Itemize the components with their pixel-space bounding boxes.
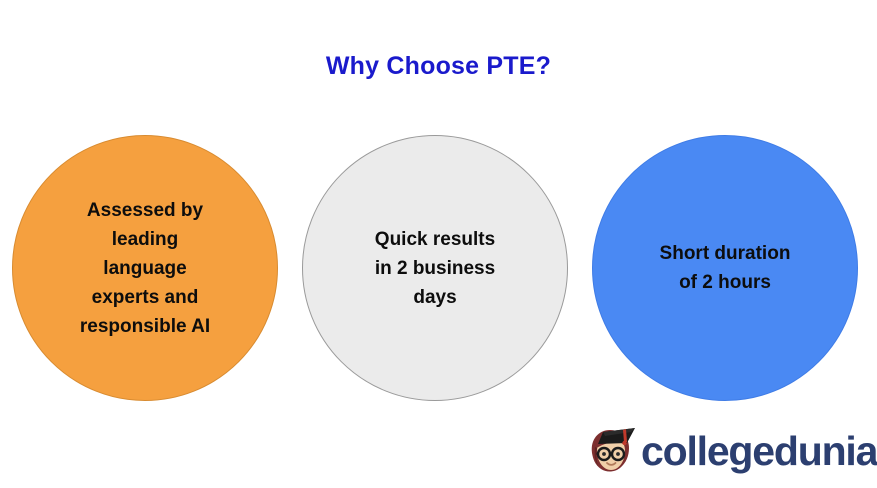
collegedunia-logo: collegedunia .com bbox=[583, 420, 873, 482]
slide-canvas: Why Choose PTE? Assessed by leading lang… bbox=[0, 0, 877, 488]
logo-wordmark-text: collegedunia bbox=[641, 431, 877, 472]
page-title: Why Choose PTE? bbox=[0, 52, 877, 81]
feature-circle-assessed-by-experts: Assessed by leading language experts and… bbox=[12, 135, 278, 401]
feature-circle-quick-results: Quick results in 2 business days bbox=[302, 135, 568, 401]
graduate-face-icon bbox=[583, 423, 639, 479]
feature-circle-label: Short duration of 2 hours bbox=[625, 239, 825, 297]
feature-circle-label: Assessed by leading language experts and… bbox=[56, 196, 234, 341]
feature-circle-short-duration: Short duration of 2 hours bbox=[592, 135, 858, 401]
feature-circle-label: Quick results in 2 business days bbox=[340, 225, 530, 312]
logo-wordmark: collegedunia .com bbox=[641, 431, 877, 472]
